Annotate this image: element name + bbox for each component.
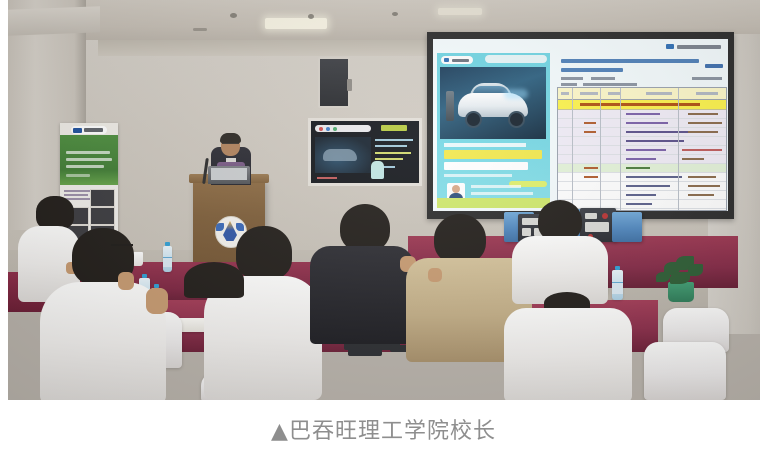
poster-headline-2 (444, 150, 542, 159)
ceiling-fixture-icon (308, 14, 314, 19)
banner-photo-thumb (90, 189, 115, 207)
table-row (558, 182, 726, 191)
slide-meta-value-2 (583, 83, 637, 86)
person-head (434, 214, 486, 264)
test-equipment-unit (612, 212, 642, 242)
person-head (36, 196, 74, 230)
slide-meta-date (692, 77, 722, 80)
slide-title-line (561, 59, 699, 63)
slide-meta-label-2 (561, 83, 577, 86)
banner-green-panel (60, 135, 118, 185)
projection-screen-frame (427, 32, 734, 219)
plant-leaf (670, 272, 690, 284)
caption-text: ▲巴吞旺理工学院校长 (271, 413, 496, 445)
poster-logo-icon (441, 56, 473, 64)
chair-cover (644, 342, 726, 400)
person-head (184, 262, 244, 298)
water-bottle (163, 246, 172, 272)
charging-post-icon (446, 91, 454, 121)
poster-footer-band (437, 198, 550, 208)
person-torso (310, 246, 414, 344)
ceiling-light (438, 8, 482, 15)
person-hand (146, 288, 168, 314)
wall-monitor (308, 118, 422, 186)
table-row (558, 164, 726, 173)
poster-topbar (485, 55, 547, 63)
slide-logo-icon (666, 43, 722, 50)
presenter-glasses-icon (222, 143, 239, 148)
table-row (558, 146, 726, 155)
table-row (558, 155, 726, 164)
ceiling-fixture-icon (193, 28, 207, 31)
banner-photo-thumb (90, 207, 115, 225)
person-head (340, 204, 390, 252)
phone-device (348, 348, 382, 356)
ceiling-fixture-icon (392, 12, 398, 16)
wall-speaker-icon (318, 57, 350, 108)
projection-screen (433, 39, 728, 211)
slide-poster (437, 53, 550, 208)
agenda-highlight-row (558, 100, 726, 110)
poster-subline (444, 174, 512, 177)
plant-leaf (656, 272, 670, 282)
plant-leaf (688, 264, 703, 276)
monitor-portrait (371, 161, 384, 179)
speaker-bracket (347, 79, 352, 91)
podium-laptop (208, 166, 250, 184)
presenter-hair (220, 133, 241, 143)
table-row (558, 137, 726, 146)
person-neck (118, 272, 134, 290)
water-bottle (612, 270, 623, 300)
table-row (558, 110, 726, 119)
ceiling-light (265, 18, 327, 29)
ceiling-fixture-icon (230, 13, 237, 18)
poster-headline-3 (444, 162, 528, 170)
slide-meta-label-1 (561, 77, 583, 80)
poster-car-photo (440, 67, 546, 139)
table-row (558, 173, 726, 182)
table-row (558, 191, 726, 200)
banner-logo-icon (71, 126, 107, 134)
banner-header (60, 123, 118, 135)
conference-photo (8, 0, 760, 400)
monitor-car-image (315, 137, 371, 173)
person-torso (504, 308, 632, 400)
photo-caption: ▲巴吞旺理工学院校长 (0, 405, 767, 453)
person-head (236, 226, 292, 280)
slide-meta-value-1 (591, 77, 615, 80)
poster-headline-1 (444, 143, 526, 147)
slide-stamp (705, 64, 723, 68)
person-glasses-icon (111, 244, 133, 252)
agenda-table-header (558, 88, 726, 100)
table-row (558, 119, 726, 128)
slide-agenda-table (557, 87, 727, 211)
monitor-slide-badge (381, 125, 407, 131)
potted-plant-pot (668, 282, 694, 302)
monitor-slide-header (315, 125, 371, 132)
page-root: ▲巴吞旺理工学院校长 (0, 0, 767, 453)
slide-subtitle-line (561, 68, 623, 72)
table-row (558, 128, 726, 137)
laptop-screen (211, 168, 247, 180)
person-hand (428, 268, 442, 282)
left-pillar-cap (8, 6, 100, 36)
